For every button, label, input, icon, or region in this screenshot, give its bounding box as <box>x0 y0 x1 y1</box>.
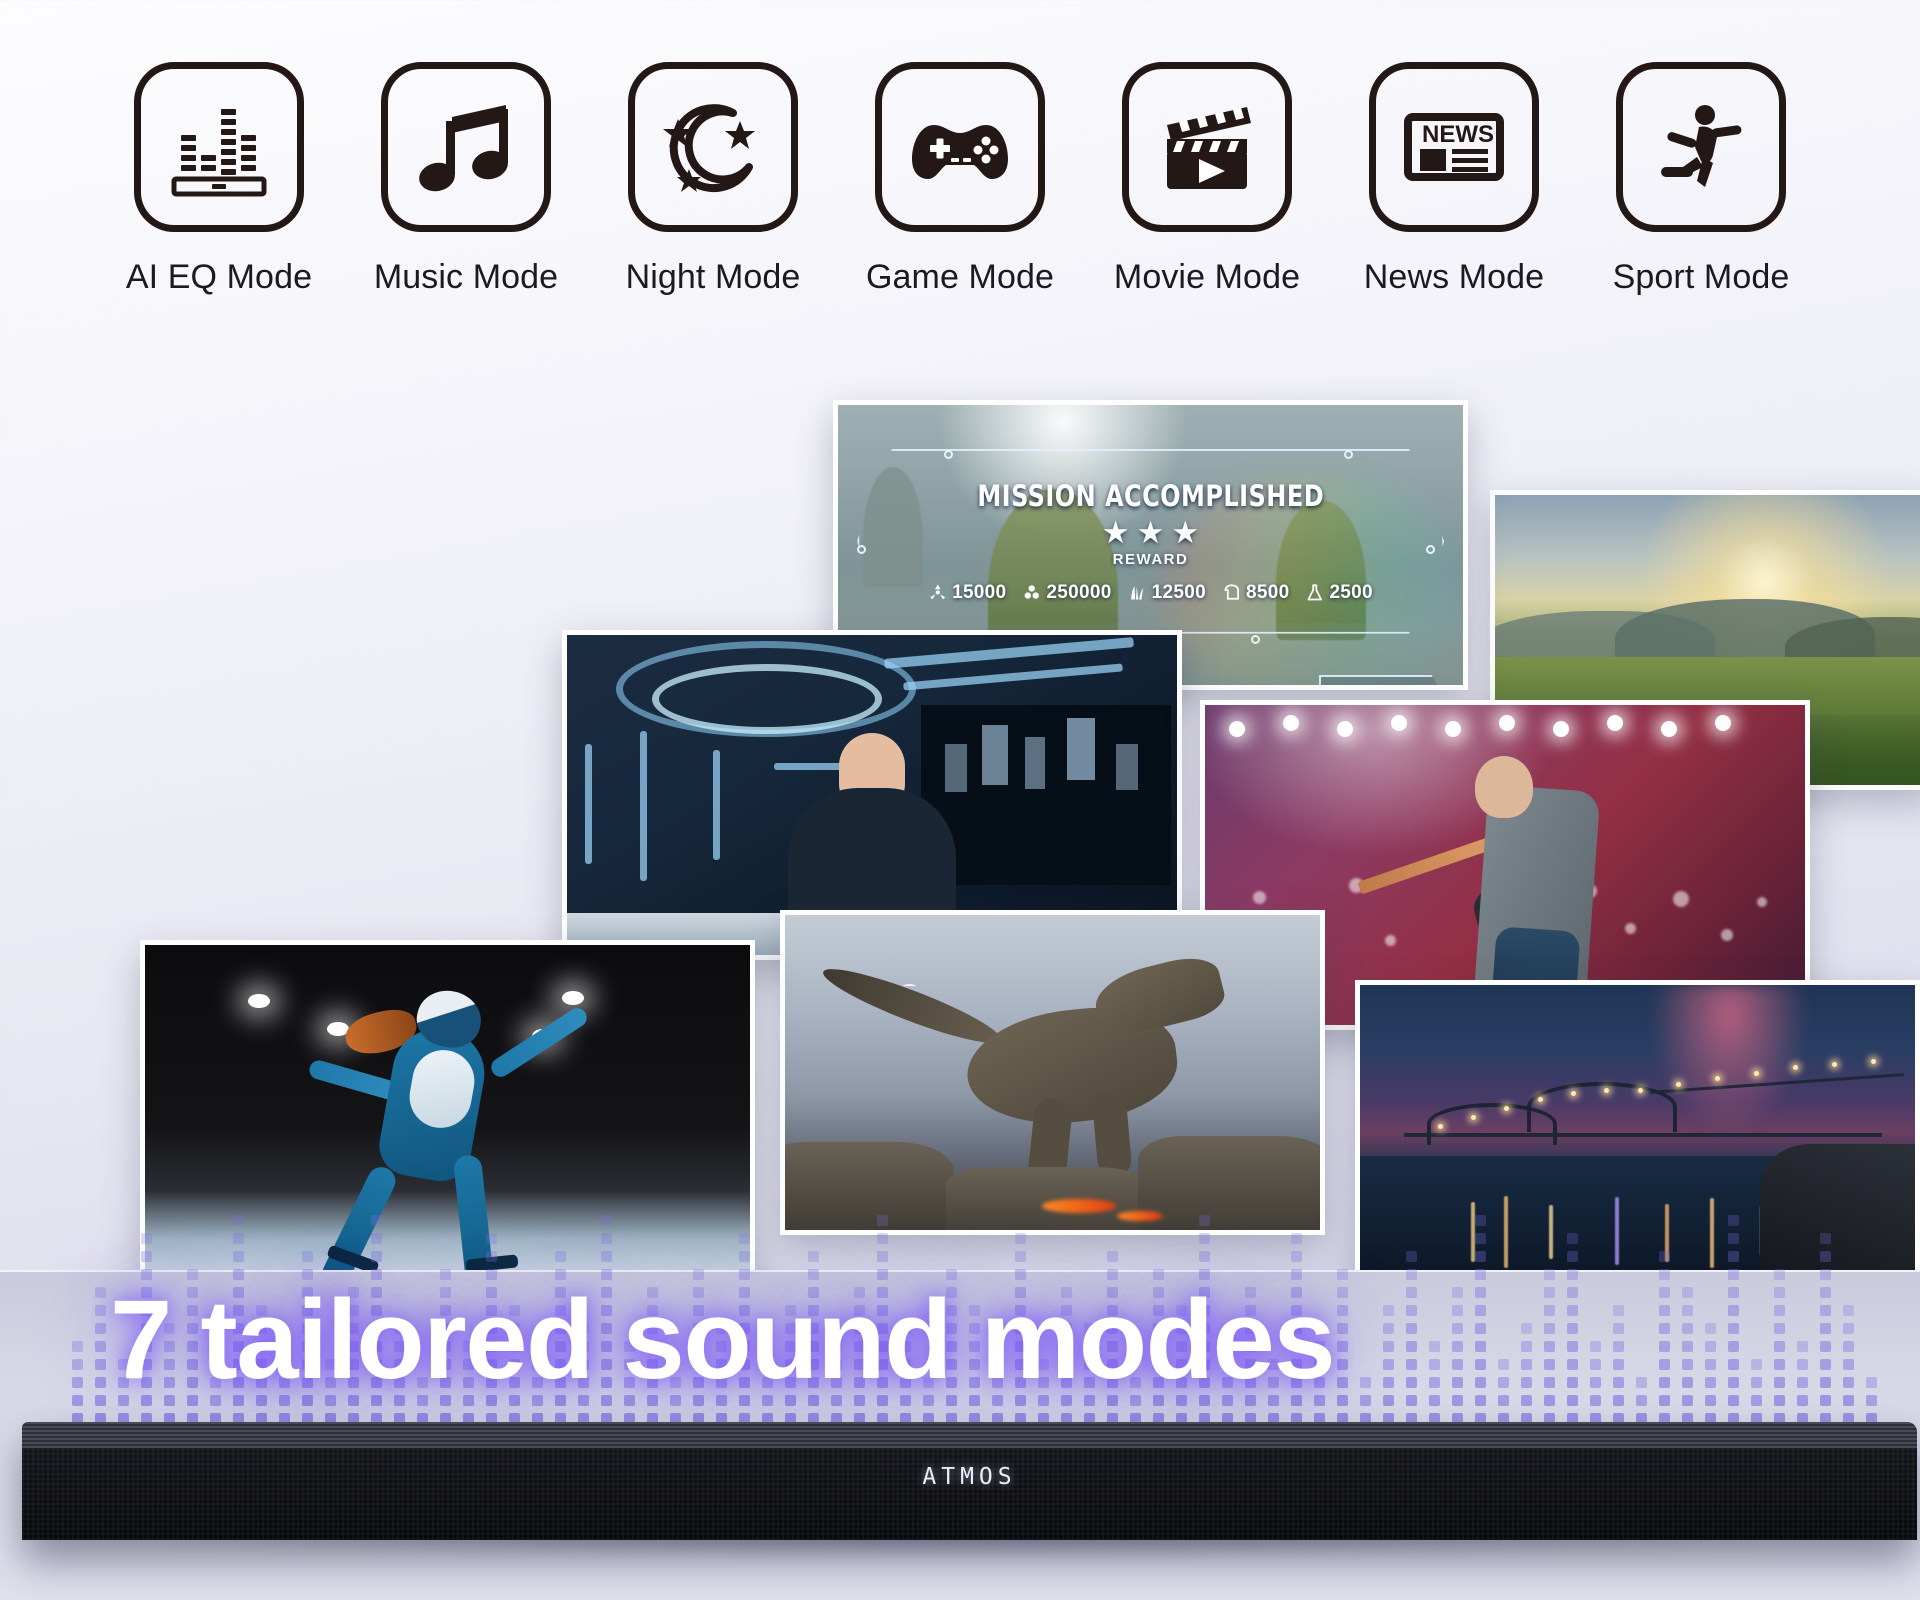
equalizer-dot <box>95 1377 106 1388</box>
equalizer-dot <box>1682 1305 1693 1316</box>
equalizer-dot <box>1383 1377 1394 1388</box>
equalizer-dot <box>1659 1359 1670 1370</box>
equalizer-dot <box>1452 1305 1463 1316</box>
equalizer-dot <box>1406 1287 1417 1298</box>
equalizer-dot <box>1337 1377 1348 1388</box>
equalizer-dot <box>601 1215 612 1226</box>
equalizer-dot <box>1521 1395 1532 1406</box>
soundbar-led-display: ATMOS <box>922 1464 1016 1490</box>
equalizer-dot <box>1728 1305 1739 1316</box>
equalizer-dot <box>1659 1377 1670 1388</box>
equalizer-dot <box>1843 1341 1854 1352</box>
stat-radiation: 15000 <box>928 582 1006 604</box>
equalizer-dot <box>1475 1305 1486 1316</box>
equalizer-dot <box>1659 1395 1670 1406</box>
equalizer-dot <box>1659 1287 1670 1298</box>
equalizer-dot <box>72 1377 83 1388</box>
equalizer-dot <box>1337 1395 1348 1406</box>
equalizer-dot <box>1452 1323 1463 1334</box>
equalizer-dot <box>1820 1287 1831 1298</box>
hud-node <box>857 545 866 554</box>
equalizer-dot <box>1360 1377 1371 1388</box>
stat-ore: 250000 <box>1022 582 1111 604</box>
equalizer-dot <box>1728 1341 1739 1352</box>
equalizer-dot <box>141 1233 152 1244</box>
equalizer-dot <box>1383 1323 1394 1334</box>
equalizer-dot <box>1544 1341 1555 1352</box>
hud-node <box>1344 450 1353 459</box>
equalizer-dot <box>739 1233 750 1244</box>
equalizer-dot <box>1429 1359 1440 1370</box>
equalizer-dot <box>141 1251 152 1262</box>
soundbar-front-grille <box>22 1448 1917 1540</box>
equalizer-dot <box>1567 1305 1578 1316</box>
equalizer-dot <box>1774 1395 1785 1406</box>
equalizer-dot <box>1613 1323 1624 1334</box>
equalizer-dot <box>1544 1287 1555 1298</box>
equalizer-dot <box>233 1251 244 1262</box>
equalizer-dot <box>1406 1323 1417 1334</box>
equalizer-dot <box>95 1395 106 1406</box>
equalizer-dot <box>1015 1251 1026 1262</box>
flask-icon <box>1305 583 1324 602</box>
equalizer-dot <box>1682 1395 1693 1406</box>
equalizer-dot <box>1613 1395 1624 1406</box>
equalizer-dot <box>1544 1305 1555 1316</box>
equalizer-dot <box>1337 1287 1348 1298</box>
equalizer-dot <box>486 1233 497 1244</box>
equalizer-dot <box>233 1233 244 1244</box>
equalizer-dot <box>486 1251 497 1262</box>
stat-bread: 8500 <box>1222 582 1289 604</box>
hud-node <box>944 450 953 459</box>
star-icon-3: ★ <box>1171 517 1199 548</box>
equalizer-dot <box>1682 1287 1693 1298</box>
equalizer-dot <box>1567 1377 1578 1388</box>
soundbar-device: ATMOS <box>22 1422 1917 1540</box>
equalizer-dot <box>1567 1341 1578 1352</box>
equalizer-dot <box>1751 1395 1762 1406</box>
equalizer-dot <box>1521 1323 1532 1334</box>
equalizer-dot <box>1820 1395 1831 1406</box>
equalizer-dot <box>1774 1269 1785 1280</box>
equalizer-dot <box>1728 1377 1739 1388</box>
equalizer-dot <box>72 1359 83 1370</box>
equalizer-dot <box>1774 1287 1785 1298</box>
equalizer-dot <box>1659 1323 1670 1334</box>
stat-grass: 12500 <box>1128 582 1206 604</box>
equalizer-dot <box>1383 1359 1394 1370</box>
equalizer-dot <box>1843 1359 1854 1370</box>
equalizer-dot <box>1199 1233 1210 1244</box>
equalizer-dot <box>1797 1359 1808 1370</box>
equalizer-dot <box>1360 1395 1371 1406</box>
equalizer-dot <box>1728 1359 1739 1370</box>
equalizer-dot <box>1751 1359 1762 1370</box>
equalizer-dot <box>1406 1251 1417 1262</box>
stat-value: 12500 <box>1152 582 1206 604</box>
equalizer-dot <box>601 1233 612 1244</box>
equalizer-dot <box>1820 1359 1831 1370</box>
equalizer-dot <box>1728 1251 1739 1262</box>
equalizer-dot <box>1728 1233 1739 1244</box>
panel-movie-dinosaur <box>780 910 1325 1235</box>
equalizer-dot <box>95 1305 106 1316</box>
equalizer-dot <box>1613 1305 1624 1316</box>
equalizer-dot <box>1613 1359 1624 1370</box>
equalizer-dot <box>877 1251 888 1262</box>
equalizer-dot <box>1383 1341 1394 1352</box>
equalizer-dot <box>1567 1359 1578 1370</box>
guitarist-head <box>1475 756 1533 818</box>
equalizer-dot <box>1590 1359 1601 1370</box>
bread-icon <box>1222 583 1241 602</box>
star-icon-1: ★ <box>1102 517 1130 548</box>
equalizer-dot <box>1797 1395 1808 1406</box>
stat-value: 250000 <box>1046 582 1111 604</box>
equalizer-dot <box>1383 1395 1394 1406</box>
equalizer-dot <box>72 1395 83 1406</box>
equalizer-dot <box>1728 1215 1739 1226</box>
equalizer-dot <box>1406 1395 1417 1406</box>
equalizer-dot <box>1475 1359 1486 1370</box>
equalizer-dot <box>1521 1341 1532 1352</box>
equalizer-dot <box>601 1251 612 1262</box>
page-headline: 7 tailored sound modes <box>110 1275 1334 1404</box>
equalizer-dot <box>1682 1359 1693 1370</box>
equalizer-dot <box>1774 1323 1785 1334</box>
equalizer-dot <box>1659 1341 1670 1352</box>
equalizer-dot <box>1337 1305 1348 1316</box>
dino-tail <box>818 958 1006 1054</box>
equalizer-dot <box>1728 1395 1739 1406</box>
equalizer-dot <box>1843 1323 1854 1334</box>
equalizer-dot <box>1107 1251 1118 1262</box>
equalizer-dot <box>95 1323 106 1334</box>
equalizer-dot <box>95 1287 106 1298</box>
equalizer-dot <box>1705 1323 1716 1334</box>
equalizer-dot <box>1682 1341 1693 1352</box>
star-icon-2: ★ <box>1137 517 1165 548</box>
equalizer-dot <box>1337 1359 1348 1370</box>
stat-value: 2500 <box>1329 582 1372 604</box>
equalizer-dot <box>371 1233 382 1244</box>
equalizer-dot <box>1015 1233 1026 1244</box>
equalizer-dot <box>1590 1341 1601 1352</box>
equalizer-dot <box>877 1233 888 1244</box>
equalizer-dot <box>1337 1269 1348 1280</box>
equalizer-dot <box>1475 1233 1486 1244</box>
equalizer-dot <box>1475 1341 1486 1352</box>
equalizer-dot <box>1452 1395 1463 1406</box>
equalizer-dot <box>1544 1359 1555 1370</box>
hud-node <box>1251 635 1260 644</box>
equalizer-dot <box>1475 1269 1486 1280</box>
equalizer-dot <box>1820 1341 1831 1352</box>
ore-cluster-icon <box>1022 583 1041 602</box>
equalizer-dot <box>1544 1377 1555 1388</box>
equalizer-dot <box>1705 1395 1716 1406</box>
equalizer-dot <box>1406 1377 1417 1388</box>
equalizer-dot <box>1567 1323 1578 1334</box>
equalizer-dot <box>555 1251 566 1262</box>
stat-value: 15000 <box>952 582 1006 604</box>
equalizer-dot <box>1590 1377 1601 1388</box>
equalizer-dot <box>1866 1377 1877 1388</box>
equalizer-dot <box>1544 1395 1555 1406</box>
equalizer-dot <box>1613 1341 1624 1352</box>
grass-icon <box>1128 583 1147 602</box>
equalizer-dot <box>1291 1251 1302 1262</box>
equalizer-dot <box>1820 1323 1831 1334</box>
equalizer-dot <box>1820 1305 1831 1316</box>
equalizer-dot <box>1521 1377 1532 1388</box>
equalizer-dot <box>1682 1323 1693 1334</box>
equalizer-dot <box>1659 1305 1670 1316</box>
equalizer-dot <box>1544 1323 1555 1334</box>
equalizer-dot <box>739 1251 750 1262</box>
equalizer-dot <box>233 1215 244 1226</box>
equalizer-dot <box>1498 1377 1509 1388</box>
equalizer-dot <box>1475 1377 1486 1388</box>
equalizer-dot <box>1337 1341 1348 1352</box>
equalizer-dot <box>1567 1233 1578 1244</box>
equalizer-dot <box>1820 1233 1831 1244</box>
hud-title: MISSION ACCOMPLISHED <box>977 479 1324 513</box>
stat-value: 8500 <box>1246 582 1289 604</box>
equalizer-dot <box>1498 1359 1509 1370</box>
equalizer-dot <box>1728 1269 1739 1280</box>
equalizer-dot <box>1199 1215 1210 1226</box>
equalizer-dot <box>1337 1323 1348 1334</box>
equalizer-dot <box>371 1251 382 1262</box>
equalizer-dot <box>1820 1251 1831 1262</box>
equalizer-dot <box>1820 1269 1831 1280</box>
hud-reward-label: REWARD <box>1113 551 1189 568</box>
equalizer-dot <box>1705 1359 1716 1370</box>
equalizer-dot <box>1636 1395 1647 1406</box>
equalizer-dot <box>302 1251 313 1262</box>
equalizer-dot <box>1613 1377 1624 1388</box>
equalizer-dot <box>808 1251 819 1262</box>
equalizer-dot <box>1636 1377 1647 1388</box>
equalizer-dot <box>1429 1395 1440 1406</box>
stat-flask: 2500 <box>1305 582 1372 604</box>
equalizer-dot <box>1843 1305 1854 1316</box>
equalizer-dot <box>1774 1377 1785 1388</box>
equalizer-dot <box>1774 1305 1785 1316</box>
equalizer-dot <box>1567 1251 1578 1262</box>
equalizer-dot <box>1843 1377 1854 1388</box>
equalizer-dot <box>1820 1377 1831 1388</box>
equalizer-dot <box>1705 1341 1716 1352</box>
equalizer-dot <box>1406 1269 1417 1280</box>
equalizer-dot <box>95 1359 106 1370</box>
equalizer-dot <box>1774 1341 1785 1352</box>
hud-stars: ★ ★ ★ <box>1102 517 1199 548</box>
equalizer-dot <box>1452 1341 1463 1352</box>
equalizer-dot <box>1705 1377 1716 1388</box>
equalizer-dot <box>1682 1377 1693 1388</box>
equalizer-dot <box>1498 1395 1509 1406</box>
equalizer-dot <box>1567 1269 1578 1280</box>
equalizer-dot <box>1429 1377 1440 1388</box>
equalizer-dot <box>1797 1341 1808 1352</box>
equalizer-dot <box>1590 1395 1601 1406</box>
equalizer-dot <box>1843 1395 1854 1406</box>
equalizer-dot <box>1659 1269 1670 1280</box>
equalizer-dot <box>1475 1395 1486 1406</box>
equalizer-dot <box>1199 1251 1210 1262</box>
equalizer-dot <box>1406 1305 1417 1316</box>
soundbar-top-grille <box>22 1422 1917 1448</box>
next-button[interactable]: NEXT <box>1319 675 1447 690</box>
equalizer-dot <box>1452 1359 1463 1370</box>
equalizer-dot <box>1383 1305 1394 1316</box>
equalizer-dot <box>1475 1287 1486 1298</box>
equalizer-dot <box>1429 1341 1440 1352</box>
dinosaur-scene <box>785 915 1320 1230</box>
equalizer-dot <box>1475 1215 1486 1226</box>
hud-stats: 15000 250000 12500 <box>928 582 1373 604</box>
equalizer-dot <box>1406 1341 1417 1352</box>
equalizer-dot <box>1567 1395 1578 1406</box>
equalizer-dot <box>1751 1377 1762 1388</box>
equalizer-dot <box>72 1341 83 1352</box>
equalizer-dot <box>1521 1359 1532 1370</box>
radiation-icon <box>928 583 947 602</box>
equalizer-dot <box>1475 1323 1486 1334</box>
equalizer-dot <box>1475 1251 1486 1262</box>
game-hud: MISSION ACCOMPLISHED ★ ★ ★ REWARD 15000 <box>857 449 1445 634</box>
equalizer-dot <box>877 1215 888 1226</box>
equalizer-dot <box>1544 1269 1555 1280</box>
equalizer-column <box>1858 1377 1884 1424</box>
equalizer-dot <box>1774 1359 1785 1370</box>
equalizer-dot <box>371 1215 382 1226</box>
equalizer-dot <box>1452 1377 1463 1388</box>
equalizer-dot <box>1291 1233 1302 1244</box>
equalizer-dot <box>1728 1287 1739 1298</box>
equalizer-dot <box>1728 1323 1739 1334</box>
equalizer-dot <box>1567 1287 1578 1298</box>
equalizer-dot <box>1452 1287 1463 1298</box>
equalizer-dot <box>1406 1359 1417 1370</box>
equalizer-dot <box>1866 1395 1877 1406</box>
equalizer-dot <box>1797 1377 1808 1388</box>
equalizer-dot <box>95 1341 106 1352</box>
news-scene <box>567 635 1177 955</box>
hud-node <box>1426 545 1435 554</box>
equalizer-dot <box>1659 1251 1670 1262</box>
